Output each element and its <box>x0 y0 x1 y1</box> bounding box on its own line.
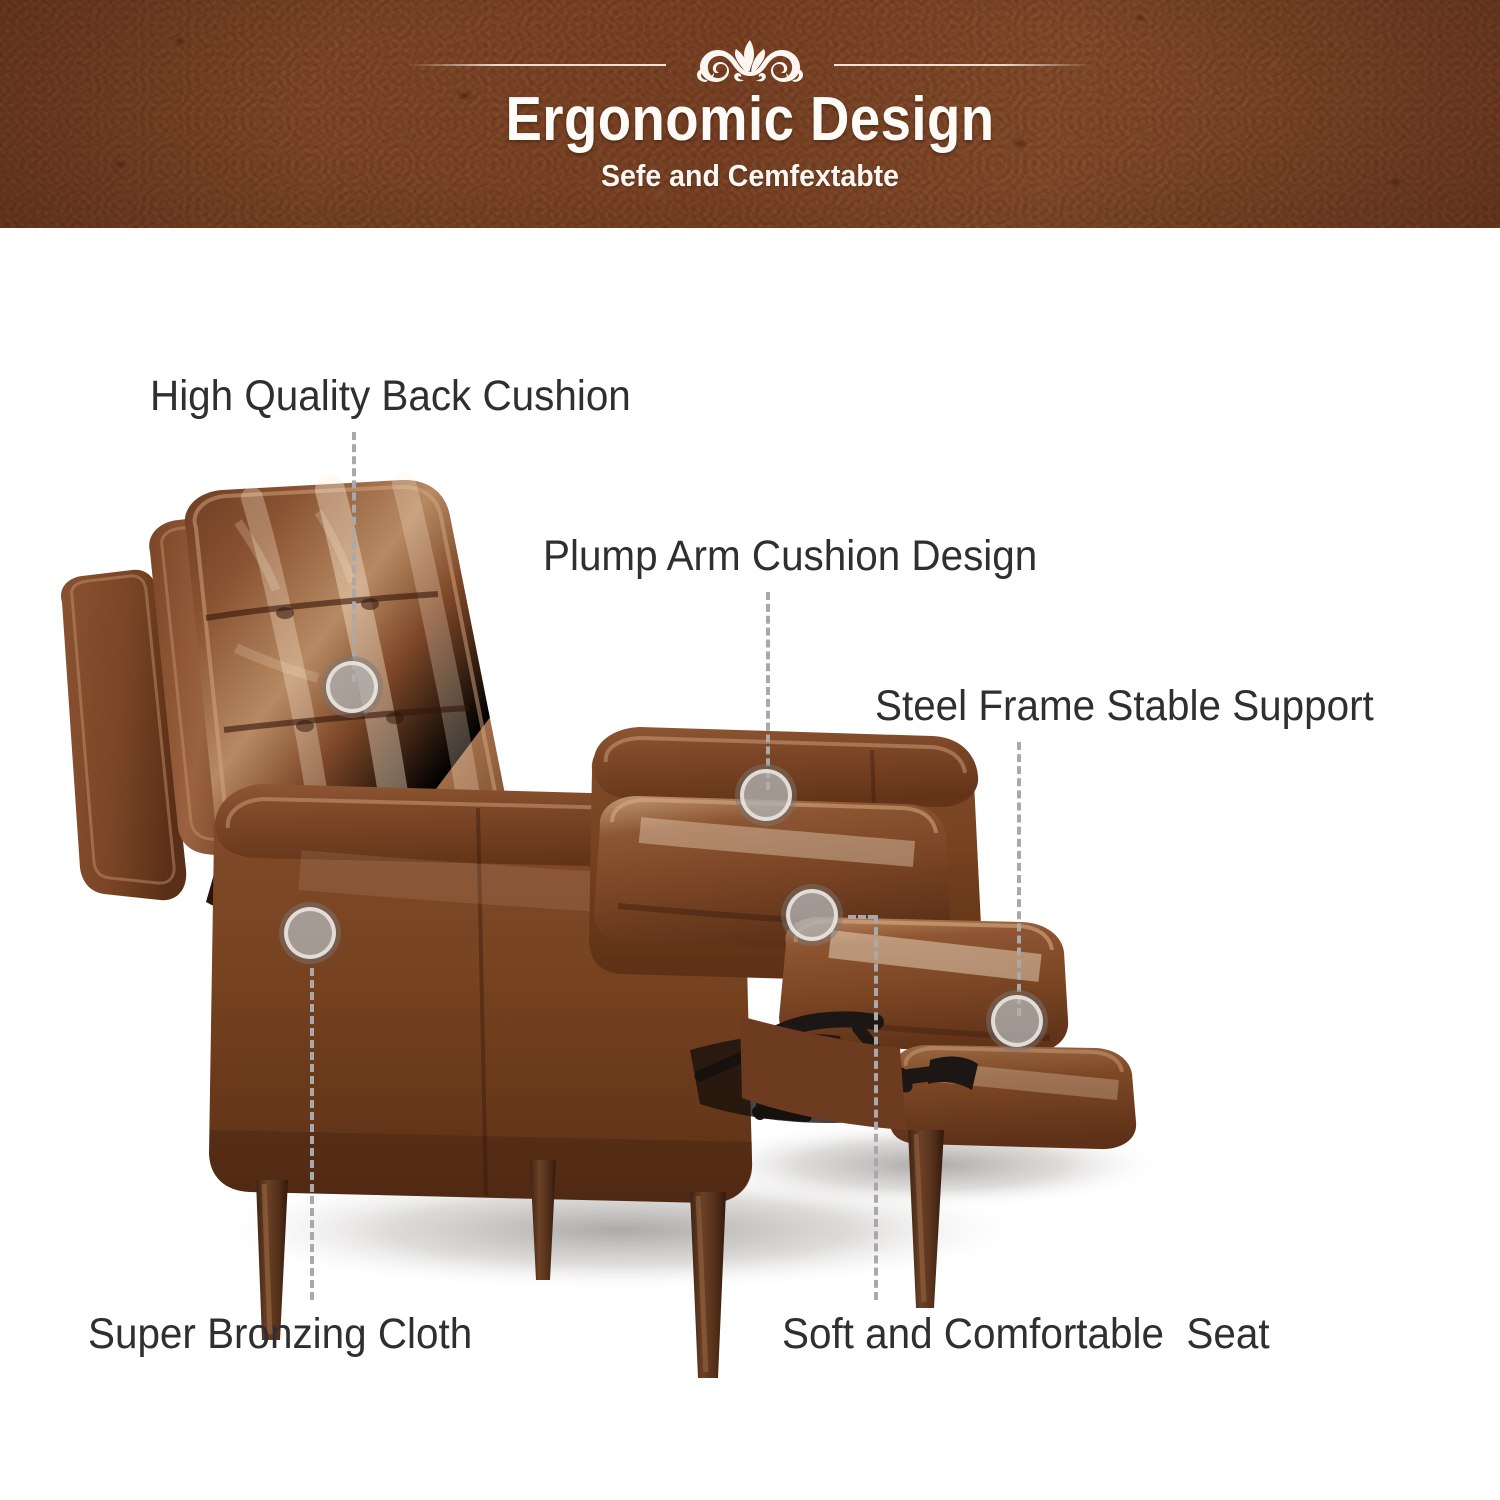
chair-leg-front-right <box>690 1192 726 1378</box>
leader-line-seat-horizontal <box>848 915 876 919</box>
header-banner: Ergonomic Design Sefe and Cemfextabte <box>0 0 1500 228</box>
callout-label-back-cushion: High Quality Back Cushion <box>150 372 631 421</box>
leader-line-arm-cushion <box>766 592 770 790</box>
divider-rule-right <box>834 64 1094 66</box>
marker-steel-frame[interactable] <box>991 995 1043 1047</box>
chair-leg-footrest-support <box>908 1130 944 1308</box>
marker-arm-cushion[interactable] <box>740 769 792 821</box>
marker-back-cushion[interactable] <box>326 661 378 713</box>
marker-comfortable-seat[interactable] <box>786 889 838 941</box>
banner-subtitle: Sefe and Cemfextabte <box>60 158 1440 194</box>
leader-line-seat-vertical <box>874 915 878 1300</box>
leader-line-steel-frame <box>1017 742 1021 1016</box>
leader-line-bronzing-cloth <box>310 968 314 1300</box>
banner-title: Ergonomic Design <box>90 84 1410 155</box>
divider-rule-left <box>406 64 666 66</box>
callout-label-arm-cushion: Plump Arm Cushion Design <box>543 532 1037 581</box>
marker-bronzing-cloth[interactable] <box>284 907 336 959</box>
callout-label-bronzing-cloth: Super Bronzing Cloth <box>88 1310 472 1359</box>
leader-line-back-cushion <box>352 432 356 682</box>
callout-label-steel-frame: Steel Frame Stable Support <box>875 682 1374 731</box>
callout-label-comfortable-seat: Soft and Comfortable Seat <box>782 1310 1270 1359</box>
